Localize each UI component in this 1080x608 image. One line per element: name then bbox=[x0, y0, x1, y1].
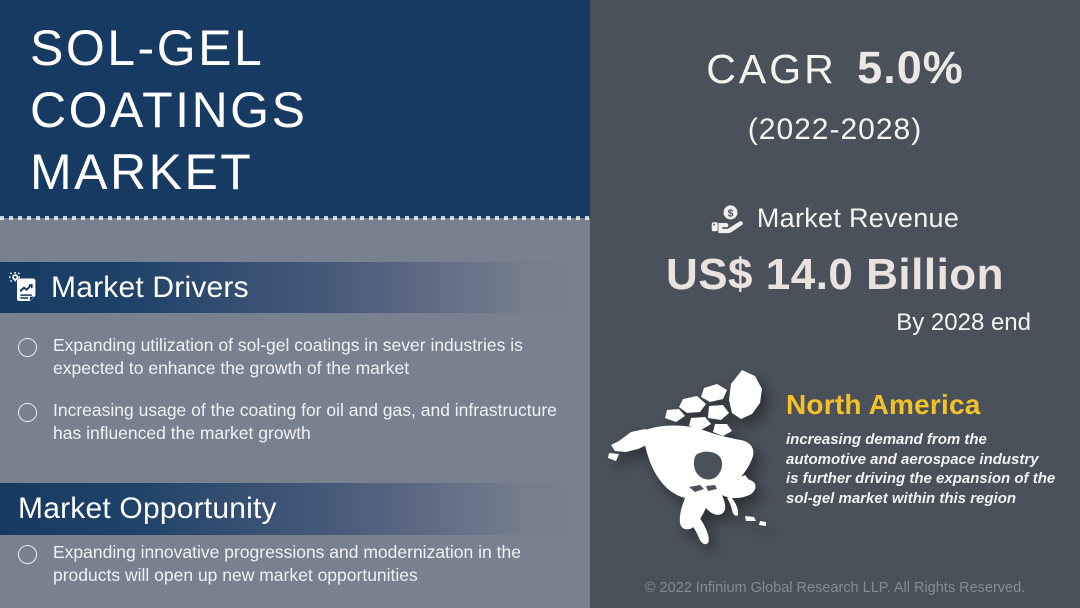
right-panel: CAGR 5.0% (2022-2028) $ bbox=[590, 0, 1080, 608]
dotted-divider bbox=[0, 216, 590, 220]
list-item: Increasing usage of the coating for oil … bbox=[0, 399, 590, 445]
region-description: increasing demand from the automotive an… bbox=[786, 430, 1066, 508]
circle-bullet-icon bbox=[18, 403, 37, 422]
cagr-period: (2022-2028) bbox=[590, 113, 1080, 147]
list-item-text: Expanding innovative progressions and mo… bbox=[53, 541, 580, 587]
title-block: SOL-GEL COATINGS MARKET bbox=[0, 0, 590, 218]
list-item-text: Increasing usage of the coating for oil … bbox=[53, 399, 580, 445]
market-revenue-label: Market Revenue bbox=[757, 203, 959, 234]
page-title: SOL-GEL COATINGS MARKET bbox=[30, 17, 307, 203]
circle-bullet-icon bbox=[18, 545, 37, 564]
region-name: North America bbox=[786, 388, 1066, 422]
section-header-market-drivers: Market Drivers bbox=[0, 262, 590, 313]
north-america-map-icon bbox=[605, 358, 805, 548]
market-revenue-value: US$ 14.0 Billion bbox=[590, 250, 1080, 300]
document-chart-gear-icon bbox=[7, 271, 41, 305]
list-item: Expanding innovative progressions and mo… bbox=[0, 541, 590, 587]
infographic-canvas: SOL-GEL COATINGS MARKET bbox=[0, 0, 1080, 608]
left-panel: SOL-GEL COATINGS MARKET bbox=[0, 0, 590, 608]
cagr-value: 5.0% bbox=[857, 42, 964, 93]
copyright-notice: © 2022 Infinium Global Research LLP. All… bbox=[590, 580, 1080, 596]
market-revenue-header: $ Market Revenue bbox=[590, 203, 1080, 234]
section-header-market-opportunity: Market Opportunity bbox=[0, 483, 590, 535]
cagr-row: CAGR 5.0% bbox=[590, 42, 1080, 94]
section-title-market-opportunity: Market Opportunity bbox=[18, 492, 277, 526]
cagr-label: CAGR bbox=[706, 46, 836, 92]
hand-holding-dollar-icon: $ bbox=[711, 204, 745, 234]
list-item-text: Expanding utilization of sol-gel coating… bbox=[53, 334, 580, 380]
market-revenue-period: By 2028 end bbox=[896, 309, 1031, 337]
region-highlight: North America increasing demand from the… bbox=[786, 388, 1066, 508]
market-opportunity-bullet-list: Expanding innovative progressions and mo… bbox=[0, 541, 590, 606]
svg-text:$: $ bbox=[727, 207, 733, 219]
section-title-market-drivers: Market Drivers bbox=[51, 271, 249, 305]
list-item: Expanding utilization of sol-gel coating… bbox=[0, 334, 590, 380]
circle-bullet-icon bbox=[18, 338, 37, 357]
market-drivers-bullet-list: Expanding utilization of sol-gel coating… bbox=[0, 334, 590, 464]
